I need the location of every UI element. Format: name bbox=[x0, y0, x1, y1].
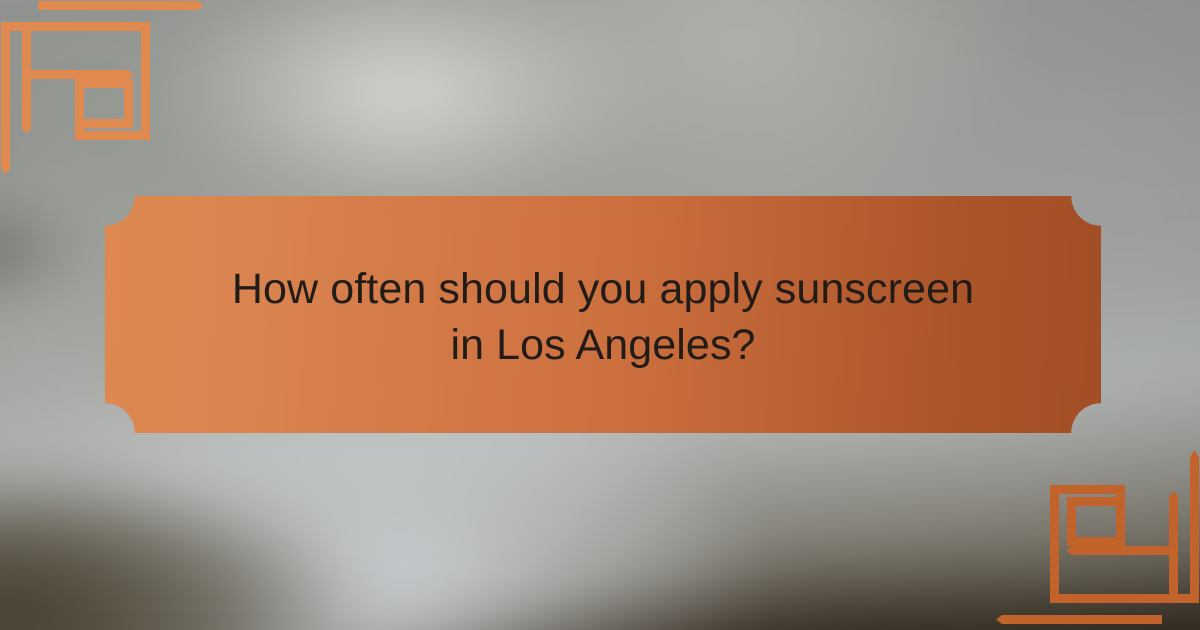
headline-text: How often should you apply sunscreen in … bbox=[105, 196, 1101, 433]
headline-banner: How often should you apply sunscreen in … bbox=[105, 196, 1101, 433]
poster-canvas: How often should you apply sunscreen in … bbox=[0, 0, 1200, 630]
